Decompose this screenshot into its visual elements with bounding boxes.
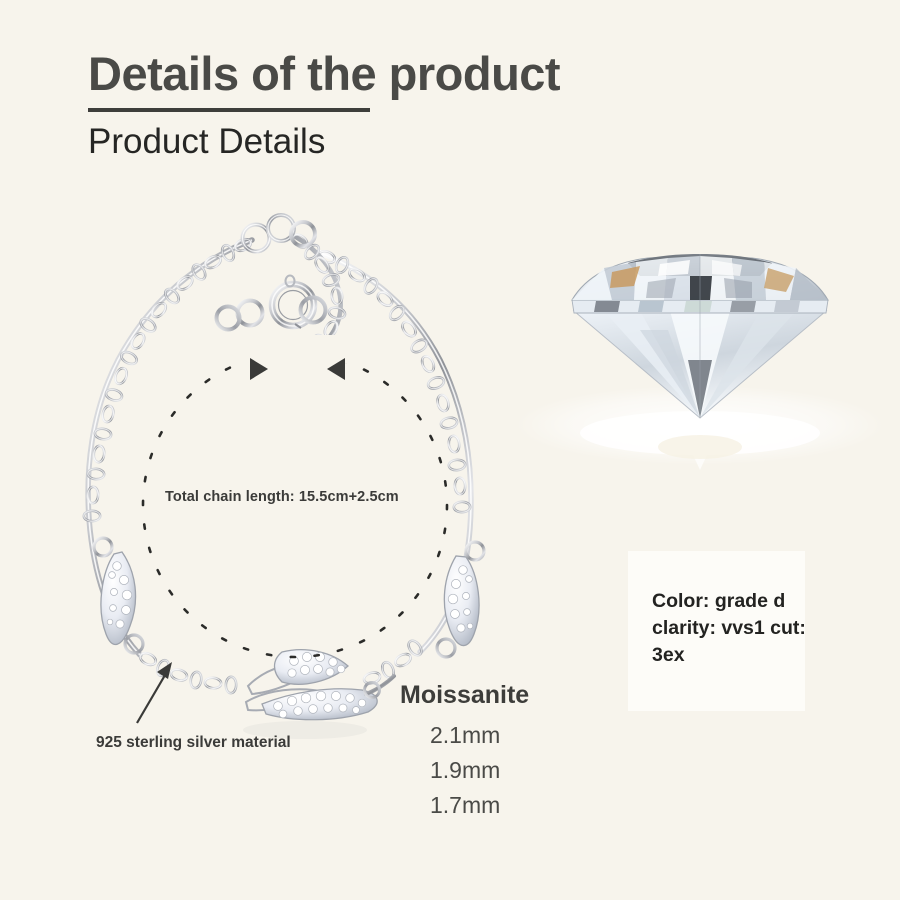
- cable-chain-bottom: [138, 638, 424, 693]
- cable-chain-left: [84, 237, 253, 655]
- page-subtitle: Product Details: [88, 122, 325, 162]
- title-underline-rule: [88, 108, 370, 112]
- leaf-pendant: [243, 650, 394, 739]
- extension-rings: [243, 215, 316, 252]
- arrow-right-inward: [327, 358, 345, 380]
- silver-material-label: 925 sterling silver material: [96, 734, 291, 752]
- moissanite-heading: Moissanite: [400, 681, 529, 710]
- marquise-pave-station-right: [437, 542, 484, 657]
- diamond-crown: [572, 254, 828, 418]
- page-title: Details of the product: [88, 46, 560, 101]
- diamond-reflection: [515, 385, 885, 470]
- marquise-pave-station-left: [94, 538, 143, 653]
- chain-length-label: Total chain length: 15.5cm+2.5cm: [165, 489, 399, 505]
- cable-chain-right: [317, 249, 471, 652]
- quality-spec-text: Color: grade d clarity: vvs1 cut: 3ex: [652, 588, 842, 669]
- arrow-to-chain: [137, 662, 172, 723]
- diamond-pavilion: [574, 311, 826, 418]
- diamond-girdle: [572, 300, 828, 313]
- product-detail-page: Details of the product Product Details: [0, 0, 900, 900]
- extension-chain: [290, 232, 346, 352]
- arrow-left-inward: [250, 358, 268, 380]
- stone-size-option-2: 1.9mm: [430, 757, 500, 784]
- stone-size-option-3: 1.7mm: [430, 792, 500, 819]
- stone-size-option-1: 2.1mm: [430, 722, 500, 749]
- spring-ring-clasp: [217, 276, 326, 330]
